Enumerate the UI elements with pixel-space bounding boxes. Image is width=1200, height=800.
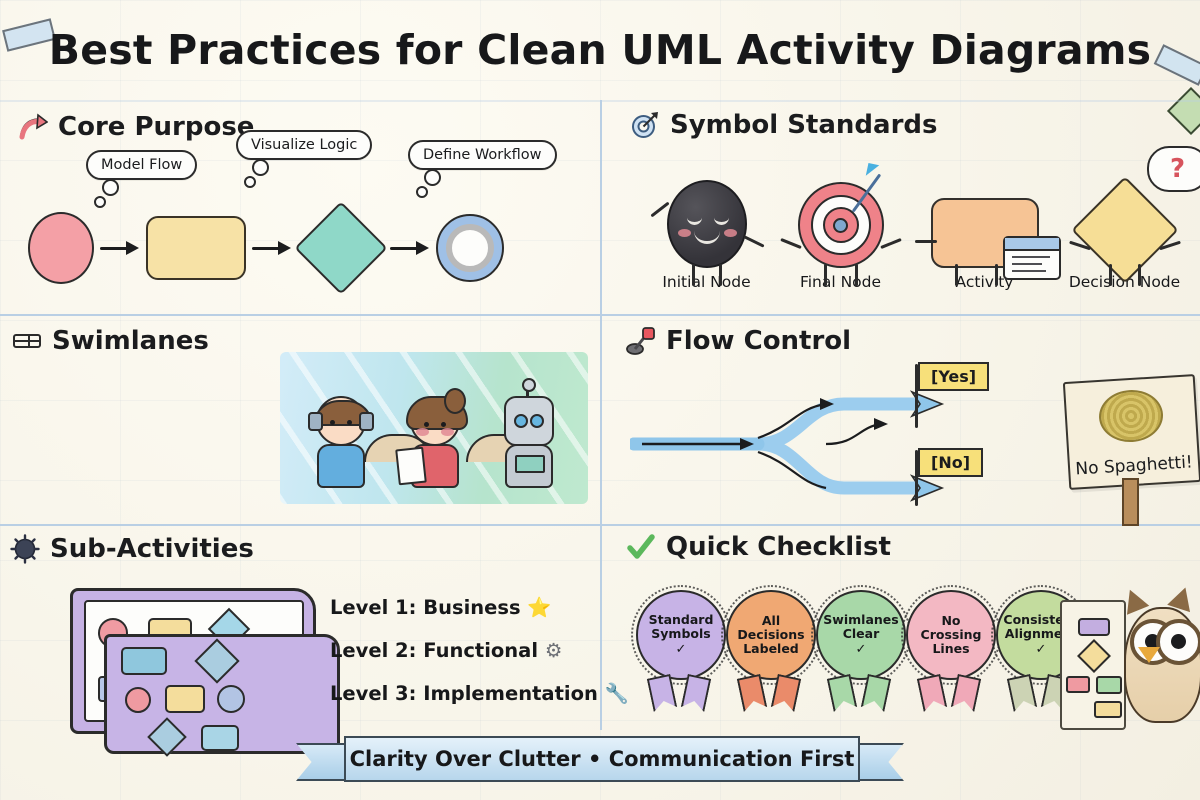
sub-activities-title: Sub-Activities [50, 534, 254, 564]
swimmer-person-with-document [398, 396, 472, 488]
mini-activity-node [165, 685, 205, 713]
level-row-1: Level 1: Business ⭐ [330, 596, 552, 619]
symbol-label: Initial Node [644, 273, 769, 291]
symbol-initial-node: Initial Node [644, 156, 769, 291]
infographic-poster: Best Practices for Clean UML Activity Di… [0, 0, 1200, 800]
level-label: Level 2: Functional [330, 639, 538, 662]
quadrant-core-purpose: Core Purpose Model Flow Visualize Logic … [18, 112, 590, 308]
core-flow-row [28, 212, 504, 284]
lane-divider-icon [12, 326, 42, 356]
decision-node-shape [294, 201, 387, 294]
symbol-decision-node: ? Decision Node [1062, 156, 1187, 291]
flow-arrow-icon [384, 237, 436, 259]
badge-check-icon: ✓ [856, 643, 867, 658]
symbol-activity: Activity [922, 156, 1047, 291]
question-thought-bubble: ? [1147, 146, 1200, 192]
thought-bubble-model-flow: Model Flow [86, 150, 197, 180]
badge-check-icon: ✓ [676, 643, 687, 658]
id-card-icon [1003, 236, 1061, 280]
dart-icon [851, 174, 880, 213]
badge-line: No [941, 614, 960, 628]
symbol-standards-title: Symbol Standards [670, 110, 937, 140]
sub-activities-header: Sub-Activities [10, 534, 590, 564]
level-label: Level 1: Business [330, 596, 521, 619]
checklist-badge: Swimlanes Clear ✓ [816, 590, 902, 710]
document-icon [395, 447, 427, 486]
final-node-character [798, 182, 884, 268]
dark-gear-circle-icon [10, 534, 40, 564]
swimmer-headset-person [304, 396, 378, 488]
quick-checklist-title: Quick Checklist [666, 532, 891, 562]
mini-decision-node [194, 638, 239, 683]
target-dart-icon [630, 110, 660, 140]
badge-check-icon: ✓ [1036, 643, 1047, 658]
badge-line: All [762, 614, 780, 628]
level-row-2: Level 2: Functional ⚙ [330, 639, 562, 662]
green-check-icon [626, 532, 656, 562]
flow-control-header: Flow Control [626, 326, 1196, 356]
badge-line: Symbols [651, 627, 710, 641]
badge-line: Standard [649, 613, 714, 627]
symbol-final-node: Final Node [778, 156, 903, 291]
swimlanes-illustration [280, 352, 588, 504]
symbol-label: Final Node [778, 273, 903, 291]
owl-mascot [1108, 585, 1200, 735]
flow-control-branch-arrows [630, 378, 1060, 516]
joystick-lever-icon [626, 326, 656, 356]
flow-control-title: Flow Control [666, 326, 851, 356]
initial-node-shape [28, 212, 94, 284]
thought-bubble-visualize-logic: Visualize Logic [236, 130, 372, 160]
bottom-banner: Clarity Over Clutter • Communication Fir… [296, 736, 904, 778]
divider-horizontal [0, 314, 1200, 316]
mini-decision-node [147, 717, 187, 757]
tangled-noodles-icon [1097, 388, 1164, 444]
decision-node-character [1071, 176, 1178, 283]
branch-label-no: [No] [918, 448, 983, 477]
divider-horizontal [0, 100, 1200, 102]
banner-body: Clarity Over Clutter • Communication Fir… [344, 736, 860, 782]
divider-horizontal [0, 524, 1200, 526]
checklist-badge: No Crossing Lines [906, 590, 992, 710]
flow-arrow-icon [246, 237, 298, 259]
checklist-badge: All Decisions Labeled [726, 590, 812, 710]
activity-node-shape [146, 216, 246, 280]
owl-beak-icon [1138, 647, 1160, 663]
symbol-standards-header: Symbol Standards [630, 110, 1190, 140]
banner-text: Clarity Over Clutter • Communication Fir… [350, 747, 855, 771]
swimmer-robot [492, 396, 566, 488]
branch-label-yes: [Yes] [918, 362, 989, 391]
divider-vertical [600, 100, 602, 730]
mini-initial-node [125, 687, 151, 713]
level-label: Level 3: Implementation [330, 682, 598, 705]
mini-activity-node [121, 647, 167, 675]
badge-line: Decisions [737, 628, 804, 642]
curved-red-arrow-icon [18, 112, 48, 142]
nested-diagram-folder [56, 588, 348, 748]
mini-final-node [217, 685, 245, 713]
swimlanes-title: Swimlanes [52, 326, 209, 356]
star-icon: ⭐ [527, 596, 551, 619]
level-row-3: Level 3: Implementation 🔧 [330, 682, 629, 705]
checklist-badge: Standard Symbols ✓ [636, 590, 722, 710]
badge-line: Swimlanes [823, 613, 898, 627]
badge-line: Lines [932, 642, 969, 656]
activity-character [931, 198, 1039, 268]
no-spaghetti-sign: No Spaghetti! [1063, 374, 1200, 490]
badge-line: Crossing [921, 628, 982, 642]
badge-line: Labeled [743, 642, 799, 656]
quadrant-symbol-standards: Symbol Standards Initial Node [630, 110, 1190, 308]
badge-line: Clear [843, 627, 880, 641]
flow-arrow-icon [94, 237, 146, 259]
dart-fletching-icon [865, 163, 878, 178]
page-title: Best Practices for Clean UML Activity Di… [0, 26, 1200, 74]
thought-bubble-define-workflow: Define Workflow [408, 140, 557, 170]
core-purpose-title: Core Purpose [58, 112, 254, 142]
quick-checklist-header: Quick Checklist [626, 532, 1196, 562]
sign-post-icon [1122, 478, 1139, 526]
final-node-shape [436, 214, 504, 282]
mini-activity-node [201, 725, 239, 751]
initial-node-character [667, 180, 747, 268]
gear-icon: ⚙ [545, 639, 562, 662]
